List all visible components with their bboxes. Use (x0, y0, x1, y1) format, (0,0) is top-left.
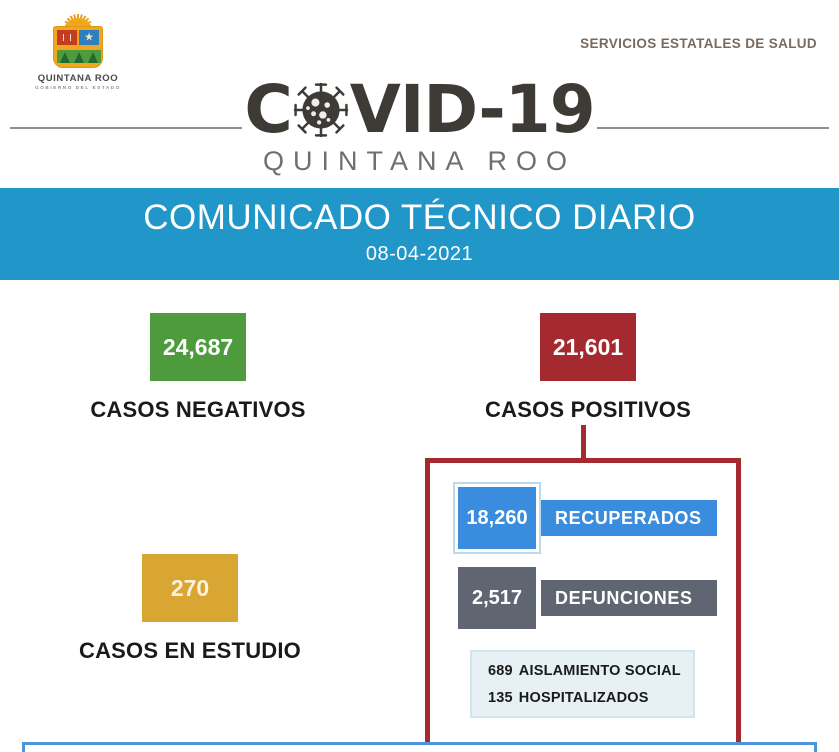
bottom-panel-partial (22, 742, 817, 752)
recuperados-value-box: 18,260 (455, 484, 539, 552)
defunciones-label: DEFUNCIONES (555, 588, 693, 609)
aislamiento-value: 689 (488, 663, 513, 679)
stat-label: CASOS EN ESTUDIO (40, 638, 340, 664)
breakdown-defunciones: 2,517 DEFUNCIONES (455, 564, 717, 632)
detail-row-aislamiento: 689AISLAMIENTO SOCIAL (488, 663, 693, 679)
covid-subtitle: QUINTANA ROO (0, 146, 839, 177)
org-title: SERVICIOS ESTATALES DE SALUD (580, 36, 817, 51)
coat-of-arms-icon: ★ (45, 12, 111, 70)
hospitalizados-value: 135 (488, 690, 513, 706)
breakdown-recuperados: 18,260 RECUPERADOS (455, 484, 717, 552)
stat-label: CASOS POSITIVOS (438, 397, 738, 423)
stat-value-box: 21,601 (537, 310, 639, 384)
defunciones-label-bar: DEFUNCIONES (537, 580, 717, 616)
covid-title-prefix: C (244, 78, 291, 142)
detail-row-hospitalizados: 135HOSPITALIZADOS (488, 690, 693, 706)
tree-icon (60, 52, 70, 63)
covid-title-suffix: VID-19 (350, 78, 595, 142)
stat-value: 270 (171, 575, 209, 602)
shield-icon: ★ (53, 26, 103, 68)
shield-red-quadrant (57, 30, 77, 45)
banner-date: 08-04-2021 (0, 243, 839, 266)
stat-value: 21,601 (553, 334, 623, 361)
shield-blue-quadrant: ★ (79, 30, 99, 45)
covid-bulletin-page: ★ QUINTANA ROO GOBIERNO DEL ESTADO SERVI… (0, 0, 839, 752)
defunciones-value-box: 2,517 (455, 564, 539, 632)
page-header: ★ QUINTANA ROO GOBIERNO DEL ESTADO SERVI… (0, 0, 839, 188)
activos-detail-box: 689AISLAMIENTO SOCIAL 135HOSPITALIZADOS (470, 650, 695, 718)
defunciones-value: 2,517 (472, 587, 522, 610)
stat-casos-negativos: 24,687 CASOS NEGATIVOS (48, 310, 348, 423)
stat-label: CASOS NEGATIVOS (48, 397, 348, 423)
aislamiento-label: AISLAMIENTO SOCIAL (519, 663, 681, 679)
stat-casos-en-estudio: 270 CASOS EN ESTUDIO (40, 551, 340, 664)
recuperados-value: 18,260 (466, 507, 527, 530)
stat-value-box: 270 (139, 551, 241, 625)
coronavirus-icon (290, 79, 352, 141)
recuperados-label: RECUPERADOS (555, 508, 702, 529)
banner-title: COMUNICADO TÉCNICO DIARIO (0, 188, 839, 238)
tree-icon (74, 52, 84, 63)
covid-title-block: C (0, 78, 839, 177)
shield-green-band (57, 50, 101, 63)
hospitalizados-label: HOSPITALIZADOS (519, 690, 649, 706)
bulletin-banner: COMUNICADO TÉCNICO DIARIO 08-04-2021 (0, 188, 839, 280)
bracket-connector (581, 425, 586, 462)
stat-value-box: 24,687 (147, 310, 249, 384)
stat-casos-positivos: 21,601 CASOS POSITIVOS (438, 310, 738, 423)
star-icon: ★ (84, 32, 94, 43)
stat-value: 24,687 (163, 334, 233, 361)
recuperados-label-bar: RECUPERADOS (537, 500, 717, 536)
tree-icon (88, 52, 98, 63)
